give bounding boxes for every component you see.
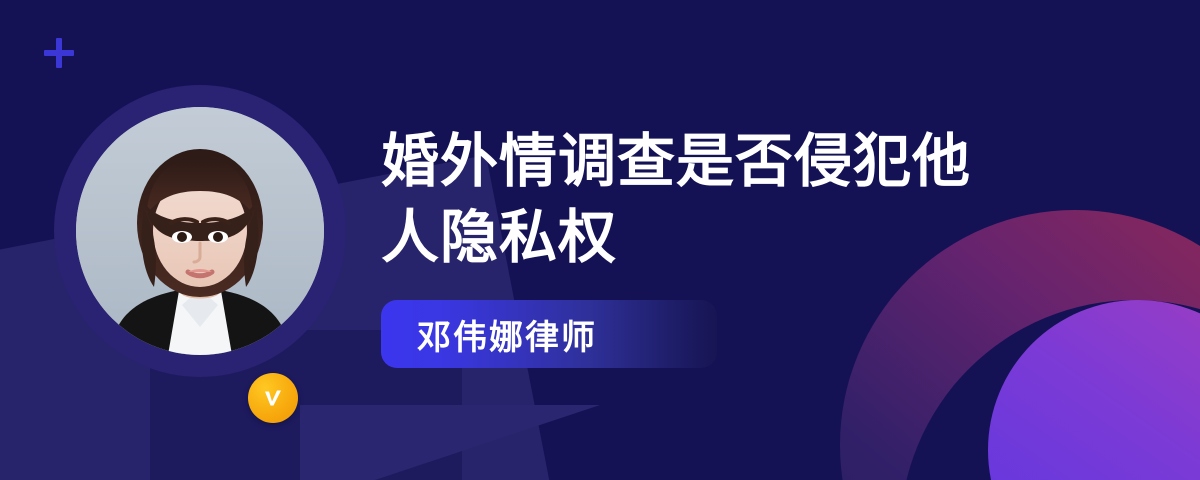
page-title: 婚外情调查是否侵犯他人隐私权 xyxy=(381,124,1001,276)
avatar-photo xyxy=(76,107,324,355)
content-block: 婚外情调查是否侵犯他人隐私权 邓伟娜律师 xyxy=(381,124,1141,368)
plus-icon xyxy=(44,38,74,68)
verified-badge xyxy=(248,373,298,423)
lawyer-name-button[interactable]: 邓伟娜律师 xyxy=(381,300,717,368)
lawyer-article-banner: 婚外情调查是否侵犯他人隐私权 邓伟娜律师 xyxy=(0,0,1200,480)
avatar xyxy=(54,85,346,377)
